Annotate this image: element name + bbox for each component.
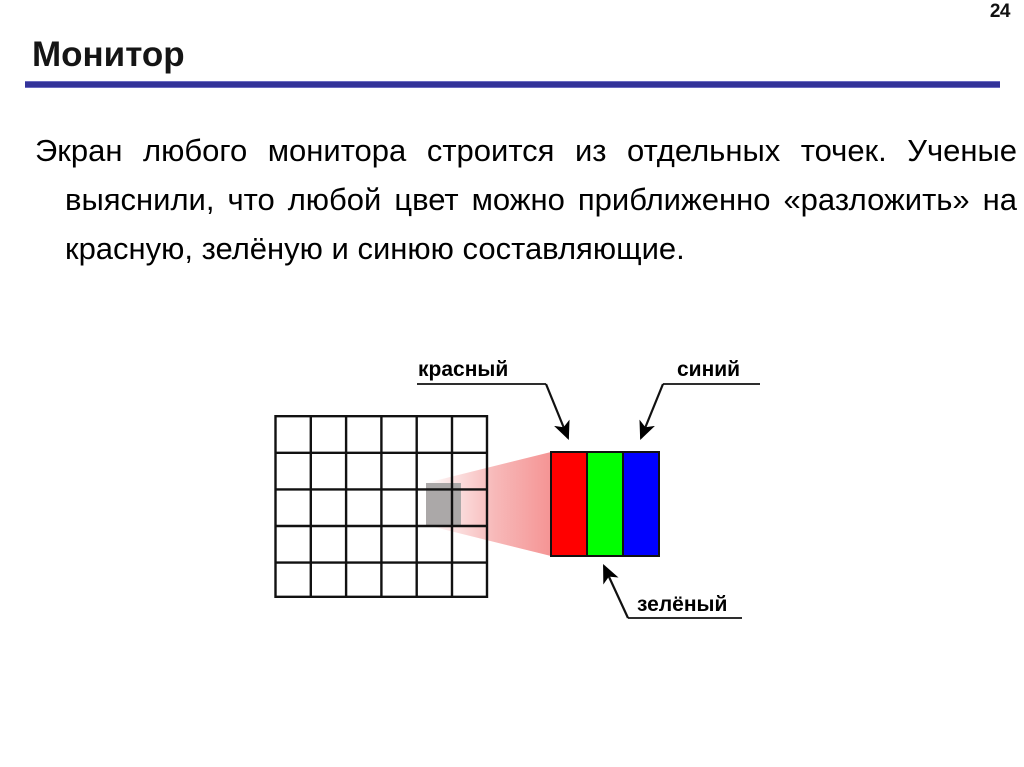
slide-canvas: 24 Монитор Экран любого монитора строитс… [0,0,1024,767]
subpixel-strip [551,452,659,556]
label-blue-group: синий [641,358,760,438]
green-subpixel [587,452,623,556]
label-red-leader [546,384,568,438]
label-blue-leader [641,384,663,438]
label-red-group: красный [417,358,568,438]
pixel-rgb-subpixel-diagram: красный синий зелёный [0,330,1024,640]
label-green: зелёный [637,593,727,616]
red-subpixel [551,452,587,556]
page-number: 24 [990,2,1010,21]
label-green-leader [604,566,628,618]
label-red: красный [418,358,508,381]
pixel-grid [275,415,488,598]
label-green-group: зелёный [604,566,742,618]
page-title: Монитор [32,36,185,75]
blue-subpixel [623,452,659,556]
body-paragraph: Экран любого монитора строится из отдель… [35,126,1017,273]
title-divider [25,81,1000,88]
body-paragraph-text: Экран любого монитора строится из отдель… [35,133,1017,266]
label-blue: синий [677,358,740,381]
